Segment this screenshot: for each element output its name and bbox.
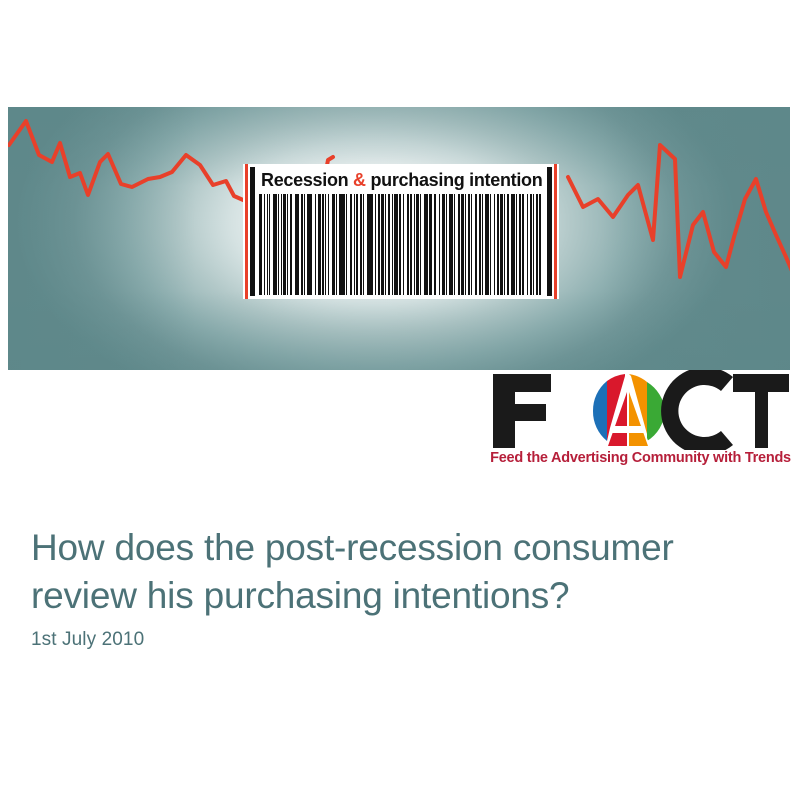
barcode-bar [325,194,327,295]
page-title: How does the post-recession consumer rev… [31,524,751,620]
logo-a-crossbar-gap [611,426,645,433]
barcode-bar [356,194,359,295]
barcode-bar [504,194,505,295]
barcode-bar [264,194,265,295]
barcode-bar [471,194,472,295]
barcode-graphic: Recession & purchasing intention [243,164,559,299]
barcode-bar [424,194,428,295]
barcode-bar [507,194,509,295]
barcode-bar [420,194,421,295]
chart-line-right [568,145,790,337]
barcode-bar [341,194,345,295]
barcode-bar [278,194,279,295]
barcode-bar [394,194,398,295]
barcode-bar [536,194,539,295]
barcode-bar [318,194,321,295]
barcode-bar [410,194,412,295]
logo-letter-f [493,374,551,448]
barcode-bar [454,194,455,295]
barcode-bar [458,194,460,295]
fact-logo-tagline: Feed the Advertising Community with Tren… [489,450,792,466]
page-date: 1st July 2010 [31,629,144,651]
barcode-bar [315,194,316,295]
barcode-bar [519,194,522,295]
barcode-bar [511,194,515,295]
barcode-bar [485,194,489,295]
barcode-bar [385,194,386,295]
barcode-bar [283,194,286,295]
barcode-bar [267,194,269,295]
page-title-line-2: review his purchasing intentions? [31,572,751,620]
barcode-bar [381,194,384,295]
barcode-rail-left-icon [245,164,248,299]
barcode-bar [332,194,335,295]
barcode-bar [354,194,355,295]
fact-logo-mark [489,370,792,450]
barcode-bar [281,194,283,295]
barcode-bar [429,194,431,295]
barcode-bar [475,194,478,295]
barcode-bar [539,194,541,295]
barcode-bar [296,194,299,295]
barcode-bar [403,194,404,295]
barcode-bar [273,194,277,295]
logo-letter-a-mark [593,374,665,446]
barcode-bar [468,194,470,295]
barcode-bar [311,194,312,295]
barcode-rail-right-icon [554,164,557,299]
barcode-label-before: Recession [261,170,353,190]
barcode-bar [371,194,373,295]
barcode-bar [290,194,292,295]
barcode-bar [336,194,337,295]
barcode-bar [533,194,534,295]
fact-logo: Feed the Advertising Community with Tren… [489,370,792,475]
barcode-bar [392,194,393,295]
barcode-bar [363,194,364,295]
barcode-bar [516,194,517,295]
barcode-bar [269,194,270,295]
barcode-bar [287,194,288,295]
barcode-bar [322,194,324,295]
barcode-bar [360,194,362,295]
barcode-bar [346,194,347,295]
barcode-bar [304,194,305,295]
barcode-bar [295,194,296,295]
barcode-bar [494,194,495,295]
barcode-bar [339,194,341,295]
barcode-guard-left-icon [250,167,255,296]
barcode-bar [482,194,483,295]
barcode-bar [375,194,376,295]
barcode-bar [449,194,453,295]
barcode-bar [442,194,445,295]
barcode-bar [446,194,448,295]
hero-banner: Recession & purchasing intention [8,107,790,370]
barcode-guard-right-icon [547,167,552,296]
barcode-bar [367,194,371,295]
barcode-bar [388,194,390,295]
logo-wedge-blue [593,381,607,441]
barcode-bar [307,194,311,295]
logo-letter-t [733,374,789,448]
barcode-bar [350,194,352,295]
barcode-label-after: purchasing intention [366,170,543,190]
barcode-bar [479,194,481,295]
barcode-bar [439,194,440,295]
barcode-bar [465,194,466,295]
barcode-bar [328,194,329,295]
barcode-bar [416,194,419,295]
page-title-line-1: How does the post-recession consumer [31,524,751,572]
barcode-bar [414,194,415,295]
barcode-bar [431,194,432,295]
barcode-bar [461,194,464,295]
barcode-bar [490,194,492,295]
barcode-label-ampersand: & [353,170,366,190]
barcode-bar [399,194,402,295]
barcode-bar [259,194,262,295]
barcode-bar [497,194,499,295]
barcode-bar [522,194,524,295]
barcode-bars [259,194,543,295]
barcode-bar [434,194,436,295]
barcode-bar [301,194,303,295]
barcode-bar [407,194,409,295]
barcode-bar [527,194,528,295]
logo-letter-c [661,370,733,450]
barcode-bar [500,194,503,295]
barcode-label: Recession & purchasing intention [261,167,541,193]
barcode-bar [530,194,532,295]
barcode-bar [378,194,380,295]
